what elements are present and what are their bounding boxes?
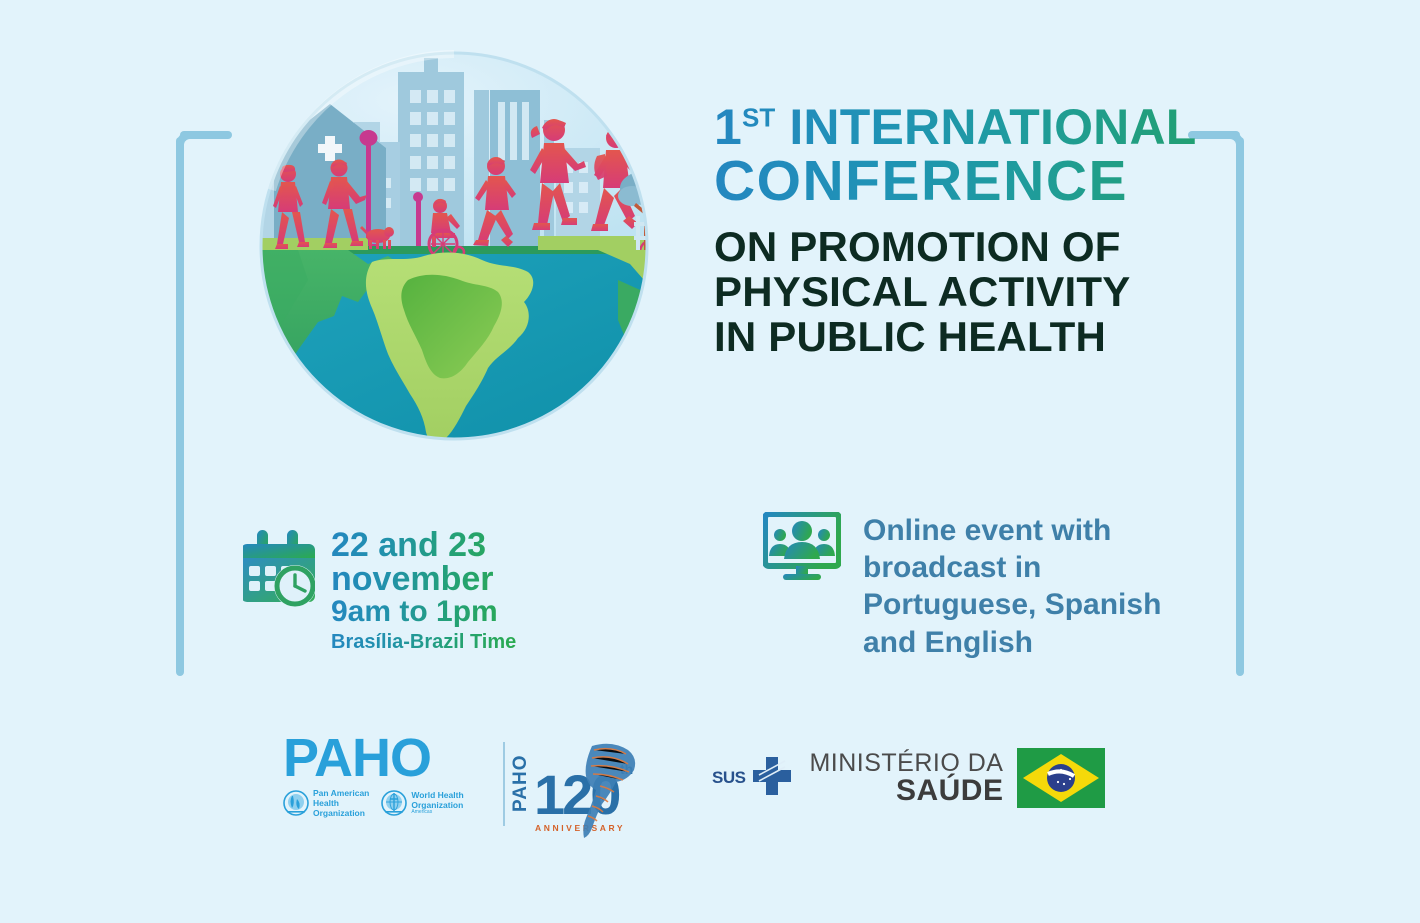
brazil-flag-icon <box>1017 748 1105 808</box>
calendar-clock-icon <box>243 528 315 614</box>
paho-120th-anniversary-logo: PAHO 120 th ANNIVERSARY <box>508 736 648 840</box>
sus-wordmark: SUS <box>712 768 745 788</box>
pan-american-health-organization-text: Pan American Health Organization <box>313 788 369 818</box>
paho-seal-icon <box>283 790 309 816</box>
paho-sub2-small: Americas <box>411 810 463 816</box>
globe-illustration <box>238 50 670 442</box>
paho-wordmark: PAHO <box>283 734 483 783</box>
world-health-organization-text: World Health Organization Americas <box>411 790 463 816</box>
headline-subtitle-line-3: IN PUBLIC HEALTH <box>714 314 1214 359</box>
decorative-bracket-left <box>176 131 236 676</box>
who-emblem-icon <box>381 790 407 816</box>
headline-line-1: 1ST INTERNATIONAL <box>714 104 1214 152</box>
world-health-organization-logo: World Health Organization Americas <box>381 788 463 818</box>
date-line-4: Brasília-Brazil Time <box>331 630 516 654</box>
sus-mark: SUS <box>712 755 795 801</box>
paho120-caption: ANNIVERSARY <box>535 823 625 833</box>
paho-sub1-line2: Health <box>313 798 339 808</box>
online-info-block: Online event with broadcast in Portugues… <box>763 512 1193 661</box>
online-event-text: Online event with broadcast in Portugues… <box>863 512 1193 661</box>
paho-sub1-line3: Organization <box>313 808 365 818</box>
paho120-vertical-word: PAHO <box>510 755 531 812</box>
paho-sub1-line1: Pan American <box>313 788 369 798</box>
date-info-block: 22 and 23 november 9am to 1pm Brasília-B… <box>243 528 516 654</box>
monitor-people-icon <box>763 512 841 582</box>
ministry-of-health-logo: SUS MINISTÉRIO DA SAÚDE <box>712 748 1105 808</box>
logo-divider <box>503 742 505 826</box>
paho-sub2-line1: World Health <box>411 790 463 800</box>
paho-logo: PAHO Pan American Health Organization <box>283 734 483 818</box>
headline-ordinal-suffix: ST <box>742 102 775 132</box>
headline-block: 1ST INTERNATIONAL CONFERENCE ON PROMOTIO… <box>714 104 1214 360</box>
pan-american-health-organization-logo: Pan American Health Organization <box>283 788 369 818</box>
ministry-line-2: SAÚDE <box>809 776 1003 806</box>
date-line-1: 22 and 23 <box>331 528 516 562</box>
logo-strip: PAHO Pan American Health Organization <box>0 726 1420 842</box>
poster-canvas: 1ST INTERNATIONAL CONFERENCE ON PROMOTIO… <box>0 0 1420 923</box>
headline-line-2: CONFERENCE <box>714 154 1214 208</box>
date-line-3: 9am to 1pm <box>331 596 516 628</box>
sus-cross-icon <box>749 755 795 801</box>
headline-line-1-rest: INTERNATIONAL <box>775 99 1196 155</box>
headline-ordinal: 1 <box>714 99 742 155</box>
date-line-2: november <box>331 562 516 596</box>
ministry-line-1: MINISTÉRIO DA <box>809 751 1003 776</box>
headline-subtitle-line-2: PHYSICAL ACTIVITY <box>714 269 1214 314</box>
ministry-wordmark: MINISTÉRIO DA SAÚDE <box>809 751 1003 806</box>
headline-subtitle-line-1: ON PROMOTION OF <box>714 224 1214 269</box>
